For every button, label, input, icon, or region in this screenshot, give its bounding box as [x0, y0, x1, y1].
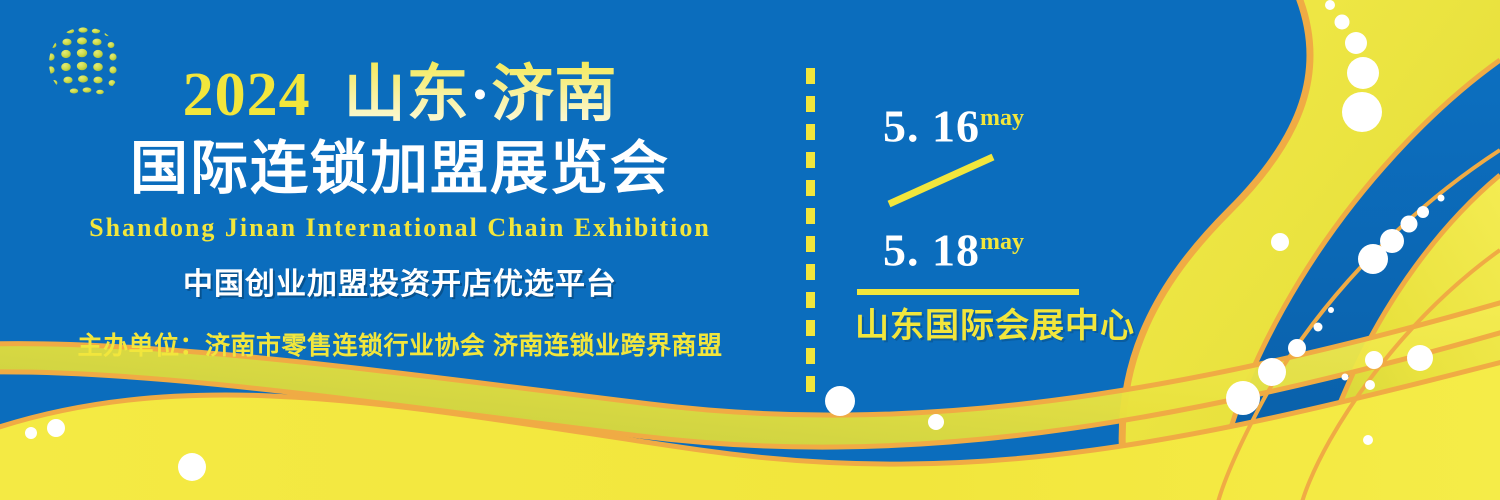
start-date-month: may [980, 105, 1024, 131]
venue-name: 山东国际会展中心 [855, 305, 1145, 349]
title-separator-dot: · [470, 61, 492, 129]
tagline: 中国创业加盟投资开店优选平台 [0, 265, 800, 305]
exhibition-banner: 2024 山东·济南 国际连锁加盟展览会 Shandong Jinan Inte… [0, 0, 1500, 500]
title-block: 2024 山东·济南 国际连锁加盟展览会 Shandong Jinan Inte… [0, 58, 800, 363]
end-date-day: 5. 18 [883, 225, 980, 276]
title-province: 山东 [344, 61, 470, 129]
date-underline-rule [857, 289, 1079, 295]
date-block: 5. 16may 5. 18may 山东国际会展中心 [845, 92, 1145, 349]
main-title-line2: 国际连锁加盟展览会 [0, 136, 800, 202]
start-date-day: 5. 16 [883, 100, 980, 151]
end-date-month: may [980, 229, 1024, 255]
title-city: 济南 [491, 61, 617, 129]
english-subtitle: Shandong Jinan International Chain Exhib… [0, 211, 800, 245]
dashed-divider [806, 68, 815, 400]
date-range-slash [883, 152, 1003, 210]
organizer-line: 主办单位：济南市零售连锁行业协会 济南连锁业跨界商盟 [0, 329, 800, 363]
title-year: 2024 [183, 61, 311, 129]
start-date: 5. 16may [883, 92, 1145, 152]
end-date: 5. 18may [883, 216, 1145, 276]
main-title-line1: 2024 山东·济南 [0, 58, 800, 132]
